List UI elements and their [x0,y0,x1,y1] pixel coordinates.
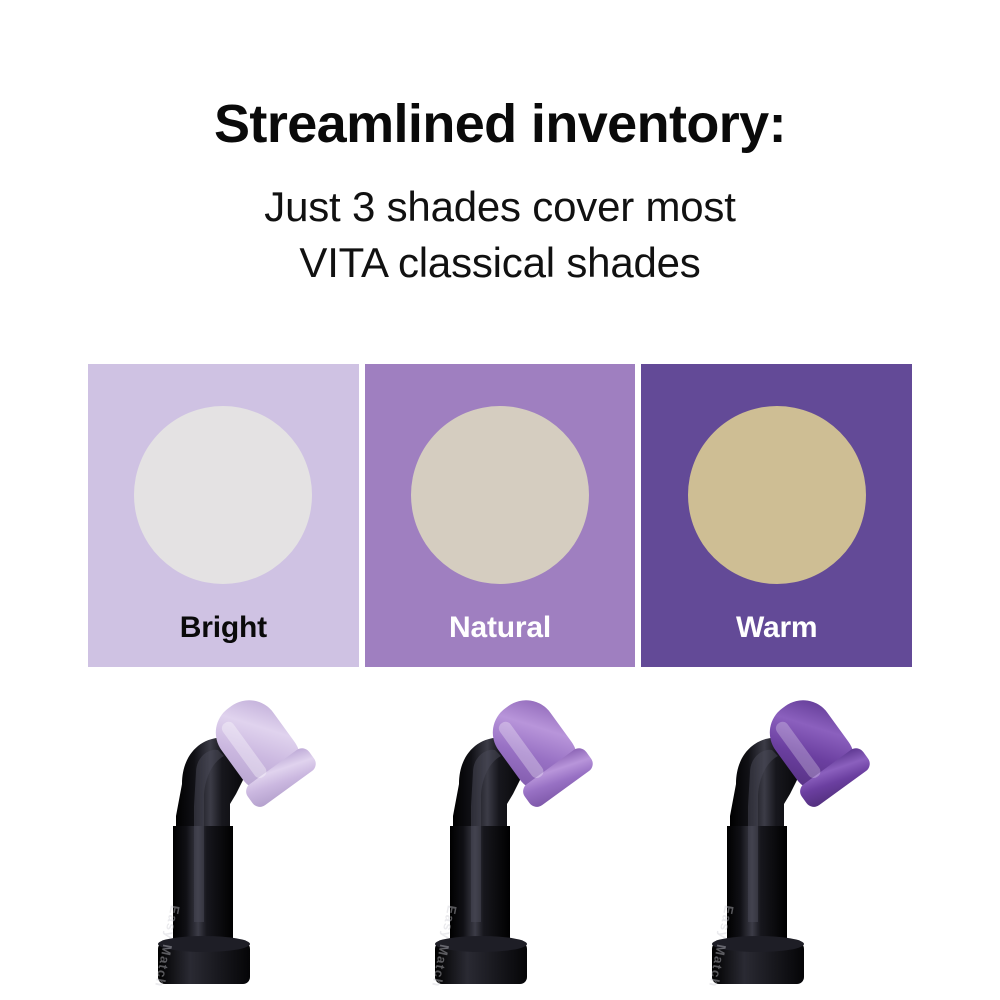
headline-block: Streamlined inventory: Just 3 shades cov… [0,96,1000,290]
page-subtitle: Just 3 shades cover most VITA classical … [0,179,1000,290]
swatch-label-bright: Bright [88,611,359,645]
swatch-label-warm: Warm [641,611,912,645]
subtitle-line-2: VITA classical shades [0,235,1000,290]
shade-circle-warm [688,406,866,584]
swatch-panel-bright[interactable]: Bright [88,364,359,667]
subtitle-line-1: Just 3 shades cover most [0,179,1000,234]
compule-cell-warm: Easy Match [641,676,912,1000]
swatch-label-natural: Natural [365,611,636,645]
dental-compule-icon-bright: Easy Match [118,676,328,1000]
page-title: Streamlined inventory: [0,96,1000,153]
infographic-canvas: Streamlined inventory: Just 3 shades cov… [0,0,1000,1000]
dental-compule-icon-natural: Easy Match [395,676,605,1000]
compule-row: Easy Match [88,676,912,1000]
compule-cell-bright: Easy Match [88,676,359,1000]
swatch-panel-warm[interactable]: Warm [641,364,912,667]
shade-circle-natural [411,406,589,584]
compule-cell-natural: Easy Match [365,676,636,1000]
dental-compule-icon-warm: Easy Match [672,676,882,1000]
shade-swatch-row: Bright Natural Warm [88,364,912,667]
swatch-panel-natural[interactable]: Natural [365,364,636,667]
shade-circle-bright [134,406,312,584]
